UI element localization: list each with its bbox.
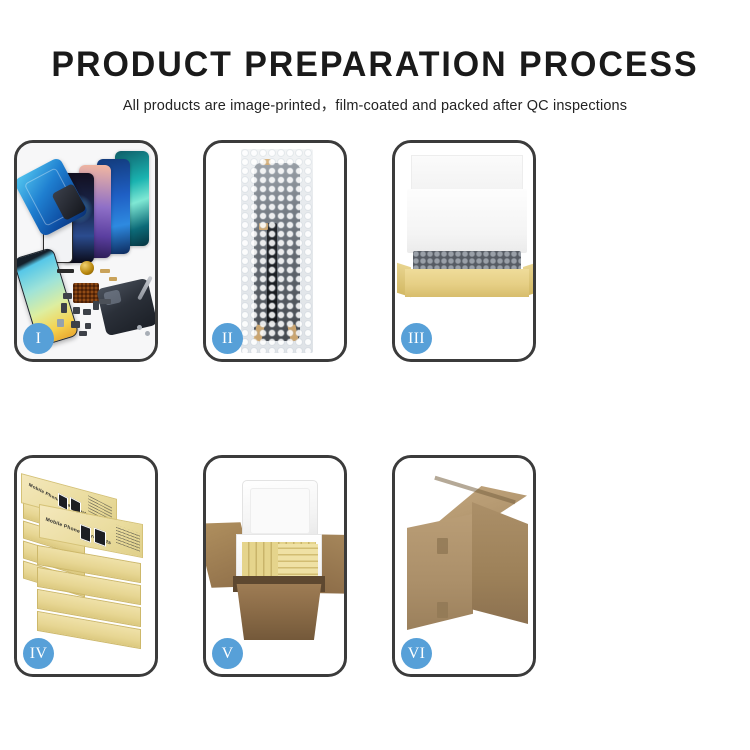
step-panel-5[interactable]: V bbox=[203, 455, 347, 677]
step-badge-5: V bbox=[212, 638, 243, 669]
carton-left-face bbox=[407, 514, 473, 630]
foam-box-lid bbox=[242, 480, 318, 542]
bubble-texture bbox=[241, 149, 313, 353]
step-panel-2[interactable]: II bbox=[203, 140, 347, 362]
tape-tab bbox=[437, 538, 448, 554]
process-steps-grid: I II III bbox=[14, 140, 736, 677]
step-badge-2: II bbox=[212, 323, 243, 354]
step-panel-1[interactable]: I bbox=[14, 140, 158, 362]
kraft-box-front bbox=[405, 269, 529, 297]
step-panel-3[interactable]: III bbox=[392, 140, 536, 362]
page-subtitle: All products are image-printed，film-coat… bbox=[0, 85, 750, 115]
step-badge-3: III bbox=[401, 323, 432, 354]
bubble-wrap-bag bbox=[241, 149, 313, 353]
page-header: PRODUCT PREPARATION PROCESS All products… bbox=[0, 0, 750, 115]
carton-front-face bbox=[233, 584, 325, 640]
white-foam-sheet bbox=[407, 189, 527, 253]
step-badge-4: IV bbox=[23, 638, 54, 669]
step-badge-1: I bbox=[23, 323, 54, 354]
inner-yellow-boxes-row2 bbox=[278, 544, 318, 580]
tape-tab bbox=[437, 602, 448, 618]
page-title: PRODUCT PREPARATION PROCESS bbox=[11, 0, 739, 85]
step-badge-6: VI bbox=[401, 638, 432, 669]
step-panel-4[interactable]: Mobile Phone Spare Parts Mobile Phone Sp… bbox=[14, 455, 158, 677]
step-panel-6[interactable]: VI bbox=[392, 455, 536, 677]
